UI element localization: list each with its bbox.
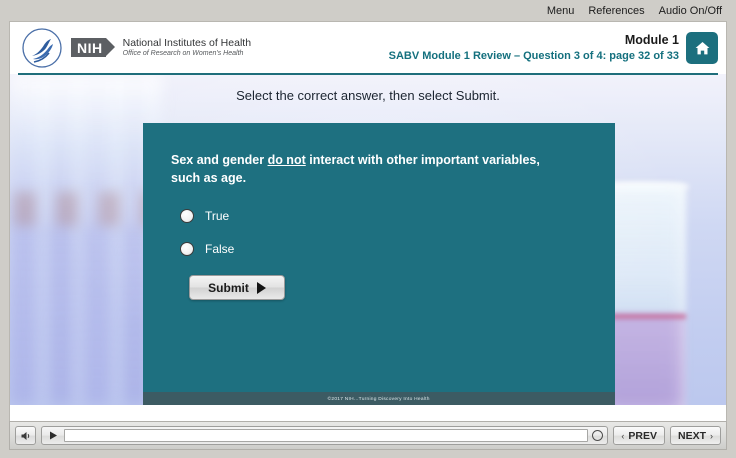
course-stage: NIH National Institutes of Health Office… xyxy=(9,21,727,421)
nih-branding: NIH National Institutes of Health Office… xyxy=(20,26,251,70)
module-subtitle: SABV Module 1 Review – Question 3 of 4: … xyxy=(389,49,679,64)
question-panel-body: Sex and gender do not interact with othe… xyxy=(143,123,615,392)
prev-button-label: PREV xyxy=(628,430,657,442)
play-button[interactable] xyxy=(46,426,60,445)
prev-chevron-icon: ‹ xyxy=(621,431,624,441)
answer-choices: True False xyxy=(171,209,587,256)
course-header: NIH National Institutes of Health Office… xyxy=(10,22,726,74)
top-menu-bar: Menu References Audio On/Off xyxy=(0,0,736,21)
menu-item-references[interactable]: References xyxy=(588,5,644,17)
nih-logotype: NIH National Institutes of Health Office… xyxy=(71,38,251,58)
speaker-icon xyxy=(20,430,32,442)
question-emphasis: do not xyxy=(268,153,306,167)
header-right-group: Module 1 SABV Module 1 Review – Question… xyxy=(389,32,718,64)
copyright-text: ©2017 NIH...Turning Discovery Into Healt… xyxy=(328,396,430,401)
next-chevron-icon: › xyxy=(710,431,713,441)
radio-button-true[interactable] xyxy=(180,209,194,223)
nih-office-name: Office of Research on Women's Health xyxy=(123,50,251,58)
radio-button-false[interactable] xyxy=(180,242,194,256)
playback-progress-area xyxy=(41,426,608,445)
answer-label-true: True xyxy=(205,209,229,223)
answer-label-false: False xyxy=(205,242,234,256)
question-text: Sex and gender do not interact with othe… xyxy=(171,151,551,187)
header-divider xyxy=(18,73,718,75)
answer-option-false[interactable]: False xyxy=(180,242,234,256)
module-title: Module 1 xyxy=(389,32,679,49)
nih-organization-name: National Institutes of Health xyxy=(123,38,251,50)
play-icon xyxy=(48,430,59,441)
nih-mark: NIH xyxy=(71,38,106,57)
player-control-bar: ‹ PREV NEXT › xyxy=(9,421,727,450)
prev-button[interactable]: ‹ PREV xyxy=(613,426,665,445)
slide-area: Select the correct answer, then select S… xyxy=(10,74,726,405)
replay-icon[interactable] xyxy=(592,430,603,441)
next-button[interactable]: NEXT › xyxy=(670,426,721,445)
menu-item-menu[interactable]: Menu xyxy=(547,5,575,17)
answer-option-true[interactable]: True xyxy=(180,209,229,223)
elearning-player-window: Menu References Audio On/Off NIH Nationa… xyxy=(0,0,736,458)
next-button-label: NEXT xyxy=(678,430,706,442)
submit-button[interactable]: Submit xyxy=(189,275,285,300)
hhs-seal-icon xyxy=(20,26,64,70)
progress-bar-track[interactable] xyxy=(64,429,588,442)
question-prefix: Sex and gender xyxy=(171,153,268,167)
question-panel: Sex and gender do not interact with othe… xyxy=(143,123,615,405)
home-button[interactable] xyxy=(686,32,718,64)
volume-button[interactable] xyxy=(15,426,36,445)
menu-item-audio[interactable]: Audio On/Off xyxy=(659,5,722,17)
play-triangle-icon xyxy=(257,282,266,294)
instruction-text: Select the correct answer, then select S… xyxy=(10,74,726,103)
home-icon xyxy=(694,40,711,57)
header-titles: Module 1 SABV Module 1 Review – Question… xyxy=(389,32,679,64)
submit-button-label: Submit xyxy=(208,281,249,295)
panel-footer: ©2017 NIH...Turning Discovery Into Healt… xyxy=(143,392,615,405)
